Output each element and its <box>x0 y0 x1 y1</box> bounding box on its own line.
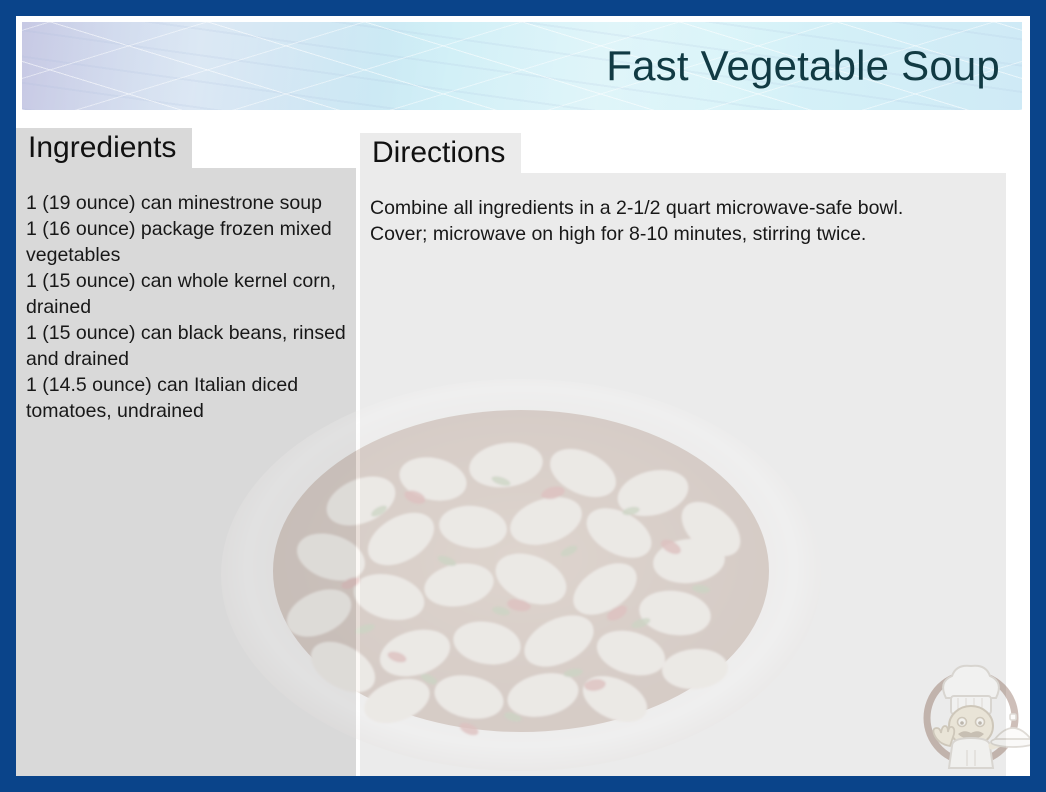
directions-heading: Directions <box>360 133 521 174</box>
directions-panel: Combine all ingredients in a 2-1/2 quart… <box>360 133 1006 776</box>
directions-content: Combine all ingredients in a 2-1/2 quart… <box>360 173 1006 247</box>
directions-panel-body: Combine all ingredients in a 2-1/2 quart… <box>360 173 1006 776</box>
directions-line: Combine all ingredients in a 2-1/2 quart… <box>370 195 996 221</box>
header-banner: Fast Vegetable Soup <box>22 22 1022 110</box>
recipe-slide: Fast Vegetable Soup <box>0 0 1046 792</box>
list-item: 1 (15 ounce) can whole kernel corn, drai… <box>26 268 346 320</box>
ingredients-content: 1 (19 ounce) can minestrone soup 1 (16 o… <box>16 168 356 424</box>
directions-line: Cover; microwave on high for 8-10 minute… <box>370 221 996 247</box>
slide-canvas: Fast Vegetable Soup <box>16 16 1030 776</box>
ingredient-list: 1 (19 ounce) can minestrone soup 1 (16 o… <box>26 190 346 424</box>
page-title: Fast Vegetable Soup <box>606 42 1000 90</box>
list-item: 1 (19 ounce) can minestrone soup <box>26 190 346 216</box>
ingredients-panel: 1 (19 ounce) can minestrone soup 1 (16 o… <box>16 128 356 776</box>
list-item: 1 (15 ounce) can black beans, rinsed and… <box>26 320 346 372</box>
list-item: 1 (16 ounce) package frozen mixed vegeta… <box>26 216 346 268</box>
list-item: 1 (14.5 ounce) can Italian diced tomatoe… <box>26 372 346 424</box>
ingredients-panel-body: 1 (19 ounce) can minestrone soup 1 (16 o… <box>16 168 356 776</box>
ingredients-heading: Ingredients <box>16 128 192 169</box>
